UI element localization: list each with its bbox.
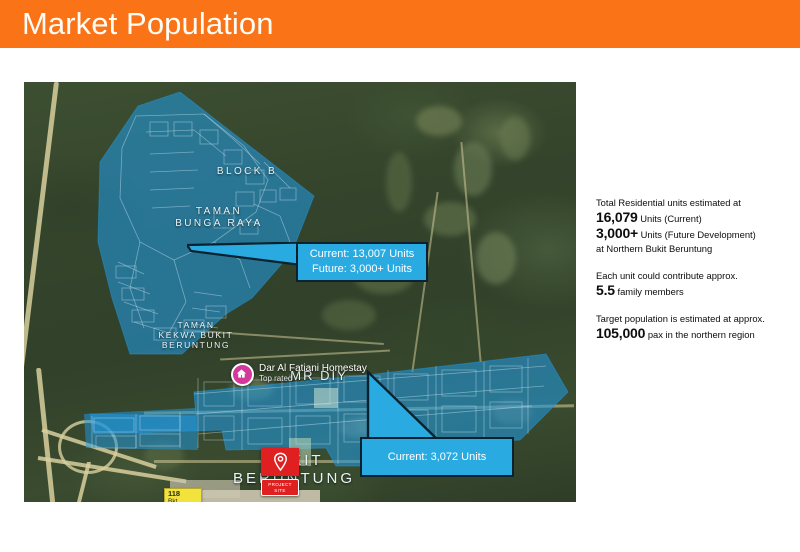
highway-number: 118 [168,490,198,498]
callout-north[interactable]: Current: 13,007 Units Future: 3,000+ Uni… [296,242,428,282]
panel-block1-value1: 16,079 [596,209,638,225]
highway-shield-118: 118 Bkt. Beruntung [164,488,202,502]
panel-block2-value-suffix: family members [617,286,683,297]
callout-north-pointer [187,242,298,274]
panel-block3-value: 105,000 [596,325,645,341]
panel-block3-value-row: 105,000 pax in the northern region [596,326,792,342]
panel-block1-value2-row: 3,000+ Units (Future Development) [596,226,792,242]
terrain-clearing [500,116,530,160]
panel-block2-lead: Each unit could contribute approx. [596,269,792,283]
poi-subtitle: Top rated [259,374,367,383]
paragraph-spacer [596,299,792,312]
callout-north-line1: Current: 13,007 Units [310,247,415,262]
terrain-clearing [416,106,462,136]
home-pin-icon [231,363,254,386]
panel-block1-value1-row: 16,079 Units (Current) [596,210,792,226]
summary-text-panel: Total Residential units estimated at 16,… [596,196,792,342]
project-site-label: PROJECT SITE [261,479,299,496]
map-label-block-b: BLOCK B [202,166,292,178]
poi-name: Dar Al Fatiani Homestay [259,363,367,374]
panel-block1-value1-suffix: Units (Current) [640,213,701,224]
panel-block2-value-row: 5.5 family members [596,283,792,299]
map-pin-icon [261,448,299,476]
callout-north-line2: Future: 3,000+ Units [312,262,412,277]
terrain-clearing [476,232,516,284]
panel-block1-tail: at Northern Bukit Beruntung [596,242,792,256]
panel-block3-value-suffix: pax in the northern region [648,329,755,340]
callout-south-line1: Current: 3,072 Units [388,450,486,465]
poi-dar-al-fatiani-homestay[interactable]: Dar Al Fatiani Homestay Top rated [231,363,367,386]
panel-block3-lead: Target population is estimated at approx… [596,312,792,326]
paragraph-spacer [596,256,792,269]
panel-block2-value: 5.5 [596,282,615,298]
page-title: Market Population [22,1,274,47]
map-label-taman-kekwa: TAMAN KEKWA BUKIT BERUNTUNG [142,320,250,350]
highway-name: Bkt. Beruntung [168,498,198,502]
project-site-marker[interactable]: PROJECT SITE [261,448,299,496]
callout-south-pointer [354,370,424,440]
panel-block1-value2: 3,000+ [596,225,638,241]
panel-block1-lead: Total Residential units estimated at [596,196,792,210]
terrain-clearing [386,152,412,212]
slide-title-bar: Market Population [0,0,800,48]
panel-block1-value2-suffix: Units (Future Development) [641,229,756,240]
callout-south[interactable]: Current: 3,072 Units [360,437,514,477]
terrain-clearing [454,142,492,196]
map-label-taman-bunga-raya: TAMAN BUNGA RAYA [164,206,274,230]
